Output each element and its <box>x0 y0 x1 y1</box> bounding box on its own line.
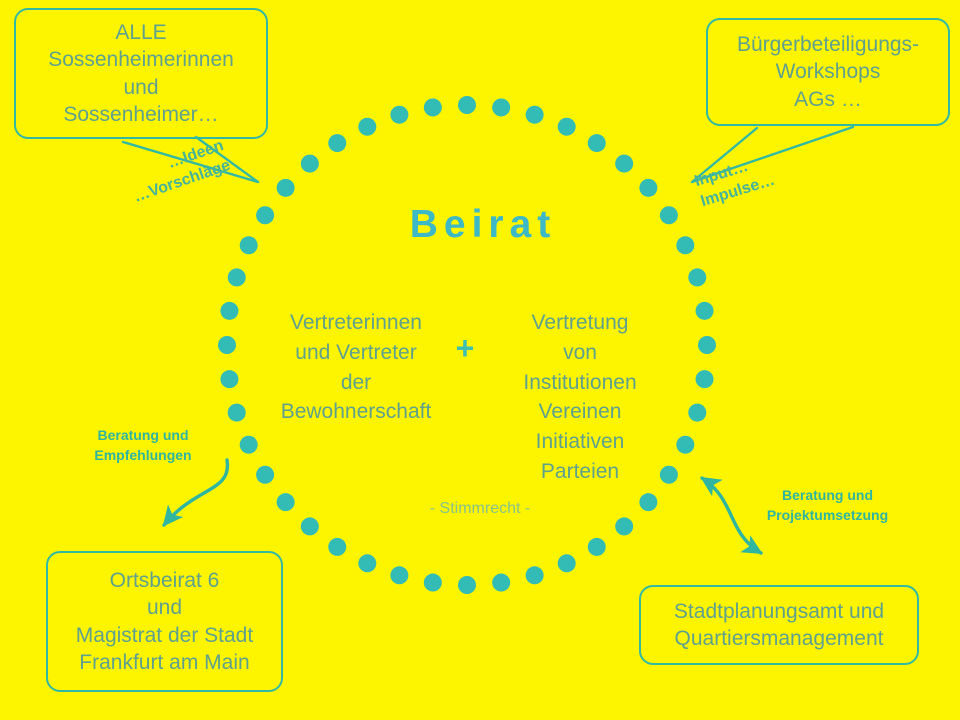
center-line: Institutionen <box>492 368 668 398</box>
circle-dot <box>328 538 346 556</box>
circle-dot <box>558 554 576 572</box>
box-line: Ortsbeirat 6 <box>110 567 220 594</box>
circle-dot <box>220 370 238 388</box>
box-line: Frankfurt am Main <box>79 649 249 676</box>
circle-dot <box>256 466 274 484</box>
center-line: Parteien <box>492 457 668 487</box>
circle-dot <box>526 106 544 124</box>
circle-dot <box>688 268 706 286</box>
label-line: Beratung und <box>745 485 910 505</box>
circle-dot <box>639 179 657 197</box>
circle-dot <box>558 118 576 136</box>
circle-dot <box>358 118 376 136</box>
diagram-title: Beirat <box>0 203 960 247</box>
circle-dot <box>615 155 633 173</box>
circle-dot <box>688 404 706 422</box>
circle-dot <box>676 436 694 454</box>
box-line: Magistrat der Stadt <box>76 622 253 649</box>
callout-line: ALLE <box>115 19 166 46</box>
box-ortsbeirat-magistrat: Ortsbeirat 6 und Magistrat der Stadt Fra… <box>46 551 283 692</box>
box-stadtplanungsamt-quartiersmanagement: Stadtplanungsamt und Quartiersmanagement <box>639 585 919 665</box>
center-column-bewohnerschaft: Vertreterinnen und Vertreter der Bewohne… <box>268 308 444 427</box>
callout-line: Sossenheimer… <box>63 101 218 128</box>
circle-dot <box>526 566 544 584</box>
circle-dot <box>390 106 408 124</box>
circle-dot <box>492 98 510 116</box>
callout-line: Bürgerbeteiligungs- <box>737 31 919 58</box>
label-line: Projektumsetzung <box>745 505 910 525</box>
circle-dot <box>277 179 295 197</box>
center-line: Vertreterinnen <box>268 308 444 338</box>
center-line: und Vertreter <box>268 338 444 368</box>
center-line: von <box>492 338 668 368</box>
circle-dot <box>424 98 442 116</box>
label-line: Beratung und <box>78 425 208 445</box>
center-column-institutionen: Vertretung von Institutionen Vereinen In… <box>492 308 668 487</box>
label-beratung-empfehlungen: Beratung und Empfehlungen <box>78 425 208 466</box>
circle-dot <box>218 336 236 354</box>
circle-dot <box>588 134 606 152</box>
callout-buergerbeteiligung: Bürgerbeteiligungs- Workshops AGs … <box>706 18 950 126</box>
circle-dot <box>492 574 510 592</box>
callout-line: Workshops <box>776 58 881 85</box>
circle-dot <box>588 538 606 556</box>
diagram-canvas: ALLE Sossenheimerinnen und Sossenheimer…… <box>0 0 960 720</box>
circle-dot <box>358 554 376 572</box>
circle-dot <box>696 370 714 388</box>
center-line: Bewohnerschaft <box>268 397 444 427</box>
circle-dot <box>301 155 319 173</box>
center-line: Vereinen <box>492 397 668 427</box>
circle-dot <box>301 517 319 535</box>
circle-dot <box>458 96 476 114</box>
box-line: und <box>147 594 182 621</box>
circle-dot <box>328 134 346 152</box>
callout-line: und <box>123 74 158 101</box>
circle-dot <box>390 566 408 584</box>
center-line: Initiativen <box>492 427 668 457</box>
box-line: Quartiersmanagement <box>675 625 884 652</box>
circle-dot <box>228 404 246 422</box>
label-ideen-vorschlaege: …Ideen …Vorschläge <box>124 135 233 208</box>
circle-dot <box>424 574 442 592</box>
callout-alle-sossenheimer: ALLE Sossenheimerinnen und Sossenheimer… <box>14 8 268 139</box>
circle-dot <box>220 302 238 320</box>
label-line: Empfehlungen <box>78 445 208 465</box>
callout-line: AGs … <box>794 86 862 113</box>
box-line: Stadtplanungsamt und <box>674 598 884 625</box>
circle-dot <box>458 576 476 594</box>
center-line: der <box>268 368 444 398</box>
plus-symbol: + <box>447 330 483 367</box>
callout-line: Sossenheimerinnen <box>48 46 234 73</box>
circle-dot <box>696 302 714 320</box>
circle-dot <box>240 436 258 454</box>
circle-dot <box>698 336 716 354</box>
circle-dot <box>615 517 633 535</box>
center-line: Vertretung <box>492 308 668 338</box>
label-beratung-projektumsetzung: Beratung und Projektumsetzung <box>745 485 910 526</box>
circle-dot <box>228 268 246 286</box>
